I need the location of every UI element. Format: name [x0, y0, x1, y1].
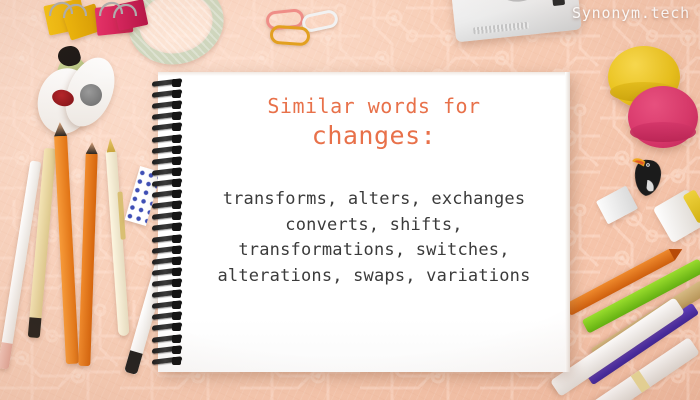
heading-term: changes: [192, 119, 556, 153]
spiral-coil [152, 280, 182, 286]
spiral-coil [152, 80, 182, 86]
spiral-coil [152, 191, 182, 197]
spiral-coil [152, 224, 182, 230]
glue-stick-cap [682, 189, 700, 224]
spiral-coil [152, 291, 182, 297]
paper-clip-orange-icon [269, 25, 310, 47]
spiral-coil [152, 236, 182, 242]
stone-grey-dot [80, 84, 102, 106]
synonym-line-2: converts, shifts, [192, 213, 556, 239]
spiral-coil [152, 302, 182, 308]
toucan-sticker-icon [628, 148, 669, 200]
spiral-coil [152, 247, 182, 253]
spiral-coil [152, 324, 182, 330]
spiral-coil [152, 91, 182, 97]
macaron-pink [628, 86, 698, 148]
spiral-coil [152, 158, 182, 164]
camera-flash [552, 0, 565, 6]
heading-prefix: Similar words for [192, 94, 556, 119]
binder-clip-arms [42, 0, 152, 22]
notepad-top-edge [158, 72, 570, 76]
camera-lens [484, 0, 550, 5]
synonym-list: transforms, alters, exchanges converts, … [192, 187, 556, 290]
notepad-right-edge [565, 72, 570, 372]
spiral-coil [152, 147, 182, 153]
spiral-coil [152, 213, 182, 219]
synonym-card-scene: Similar words for changes: transforms, a… [0, 0, 700, 400]
spiral-coil [152, 347, 182, 353]
spiral-coil [152, 358, 182, 364]
camera-grill [473, 22, 529, 35]
spiral-coil [152, 313, 182, 319]
spiral-coil [152, 258, 182, 264]
spiral-coil [152, 102, 182, 108]
spiral-coil [152, 202, 182, 208]
spiral-binding [150, 76, 184, 368]
site-logo[interactable]: Synonym.tech [572, 4, 690, 22]
spiral-coil [152, 269, 182, 275]
spiral-coil [152, 113, 182, 119]
synonym-line-4: alterations, swaps, variations [192, 264, 556, 290]
synonym-line-1: transforms, alters, exchanges [192, 187, 556, 213]
spiral-coil [152, 136, 182, 142]
spiral-coil [152, 336, 182, 342]
spiral-coil [152, 180, 182, 186]
spiral-coil [152, 124, 182, 130]
notepad-content: Similar words for changes: transforms, a… [192, 94, 556, 290]
spiral-coil [152, 169, 182, 175]
synonym-line-3: transformations, switches, [192, 238, 556, 264]
notepad: Similar words for changes: transforms, a… [158, 72, 570, 372]
